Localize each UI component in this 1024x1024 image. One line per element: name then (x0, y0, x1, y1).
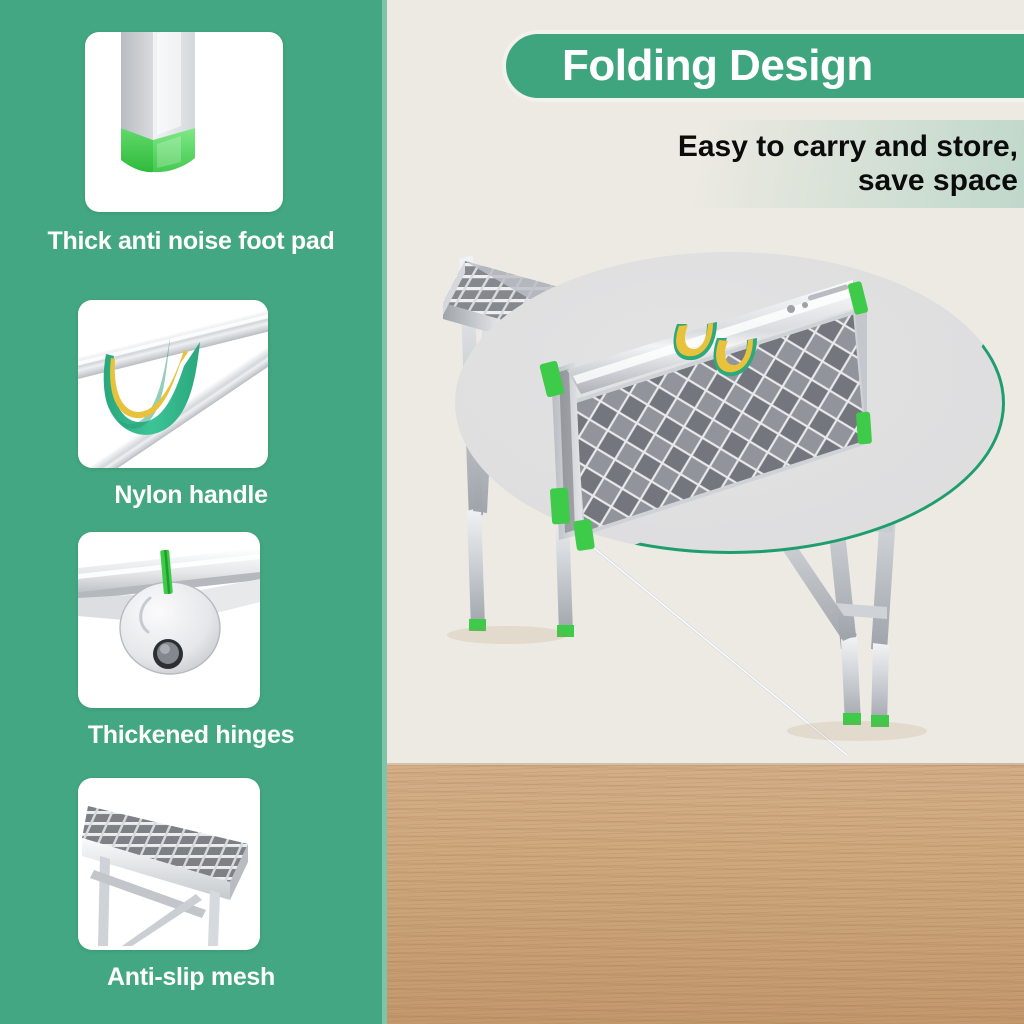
infographic-root: Thick anti noise foot pad (0, 0, 1024, 1024)
feature-foot-pad-label: Thick anti noise foot pad (0, 228, 382, 254)
feature-mesh-label: Anti-slip mesh (0, 964, 382, 990)
folded-product-inset (455, 252, 1005, 554)
feature-mesh-image (78, 778, 260, 950)
subtitle-line-2: save space (858, 164, 1018, 199)
nylon-handle-illustration (78, 300, 268, 468)
header-block: Folding Design Easy to carry and store, … (387, 0, 1024, 215)
page-title: Folding Design (562, 41, 873, 91)
hinge-illustration (78, 532, 260, 708)
title-pill-badge: Folding Design (502, 30, 1024, 102)
feature-mesh: Anti-slip mesh (0, 778, 382, 990)
floor-wall-seam (387, 763, 1024, 766)
feature-nylon-handle-image (78, 300, 268, 468)
feature-foot-pad-image (85, 32, 283, 212)
anti-slip-mesh-illustration (78, 778, 260, 950)
feature-hinge-label: Thickened hinges (0, 722, 382, 748)
feature-nylon-handle-label: Nylon handle (0, 482, 382, 508)
feature-hinge: Thickened hinges (0, 532, 382, 748)
subtitle-line-1: Easy to carry and store, (678, 130, 1018, 165)
feature-foot-pad: Thick anti noise foot pad (0, 32, 382, 254)
feature-hinge-image (78, 532, 260, 708)
subtitle-block: Easy to carry and store, save space (487, 120, 1024, 208)
folded-platform-illustration (455, 252, 1005, 554)
feature-nylon-handle: Nylon handle (0, 300, 382, 508)
feature-sidebar: Thick anti noise foot pad (0, 0, 382, 1024)
foot-pad-illustration (85, 32, 283, 212)
photo-wood-floor (387, 765, 1024, 1024)
